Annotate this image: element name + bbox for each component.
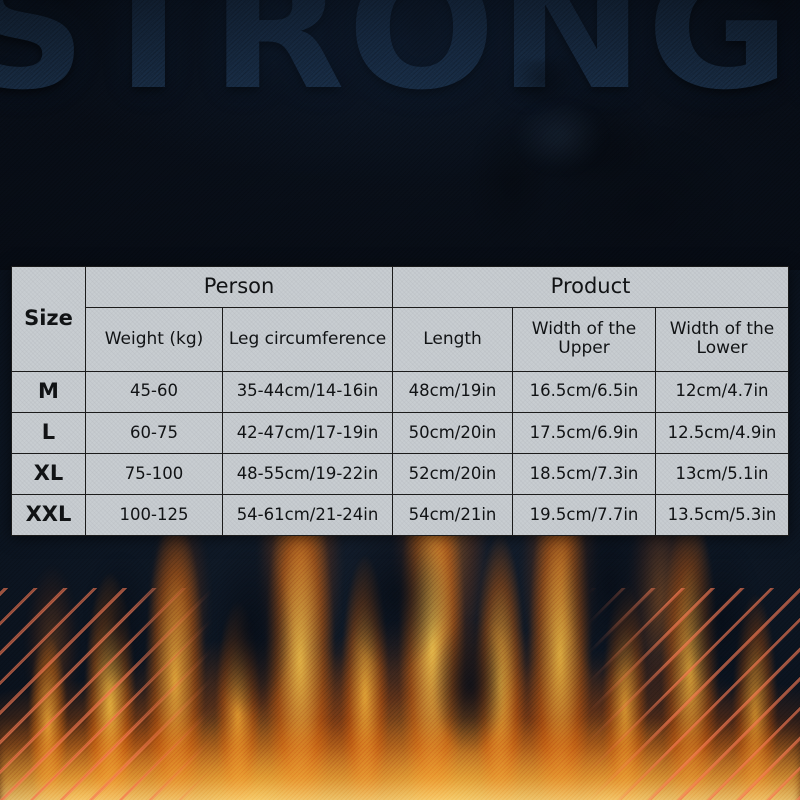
cell-length: 50cm/20in [393,412,513,453]
header-leg-circumference: Leg circumference [223,308,393,372]
header-length: Length [393,308,513,372]
cell-weight: 45-60 [86,371,223,412]
cell-size: XL [12,453,86,494]
header-weight: Weight (kg) [86,308,223,372]
cell-width-upper: 19.5cm/7.7in [513,494,656,535]
table-row: M 45-60 35-44cm/14-16in 48cm/19in 16.5cm… [12,371,789,412]
table-row: L 60-75 42-47cm/17-19in 50cm/20in 17.5cm… [12,412,789,453]
table-row: XL 75-100 48-55cm/19-22in 52cm/20in 18.5… [12,453,789,494]
cell-size: L [12,412,86,453]
cell-width-lower: 13.5cm/5.3in [656,494,789,535]
header-width-of-lower: Width of the Lower [656,308,789,372]
cell-width-upper: 16.5cm/6.5in [513,371,656,412]
cell-leg-circumference: 48-55cm/19-22in [223,453,393,494]
cell-width-lower: 13cm/5.1in [656,453,789,494]
cell-width-lower: 12cm/4.7in [656,371,789,412]
cell-leg-circumference: 35-44cm/14-16in [223,371,393,412]
header-width-of-upper: Width of the Upper [513,308,656,372]
cell-width-upper: 18.5cm/7.3in [513,453,656,494]
cell-weight: 75-100 [86,453,223,494]
cell-leg-circumference: 42-47cm/17-19in [223,412,393,453]
cell-length: 52cm/20in [393,453,513,494]
cell-width-lower: 12.5cm/4.9in [656,412,789,453]
cell-weight: 100-125 [86,494,223,535]
header-group-product: Product [393,267,789,308]
header-group-person: Person [86,267,393,308]
product-size-chart-image: STRONGER Size [0,0,800,800]
table-row: XXL 100-125 54-61cm/21-24in 54cm/21in 19… [12,494,789,535]
table-column-header-row: Weight (kg) Leg circumference Length Wid… [12,308,789,372]
cell-weight: 60-75 [86,412,223,453]
cell-length: 48cm/19in [393,371,513,412]
cell-length: 54cm/21in [393,494,513,535]
cell-size: XXL [12,494,86,535]
header-size: Size [12,267,86,372]
size-chart-table-container: Size Person Product Weight (kg) Leg circ… [11,266,789,536]
cell-size: M [12,371,86,412]
cell-leg-circumference: 54-61cm/21-24in [223,494,393,535]
cell-width-upper: 17.5cm/6.9in [513,412,656,453]
size-chart-table: Size Person Product Weight (kg) Leg circ… [11,266,789,536]
table-group-header-row: Size Person Product [12,267,789,308]
